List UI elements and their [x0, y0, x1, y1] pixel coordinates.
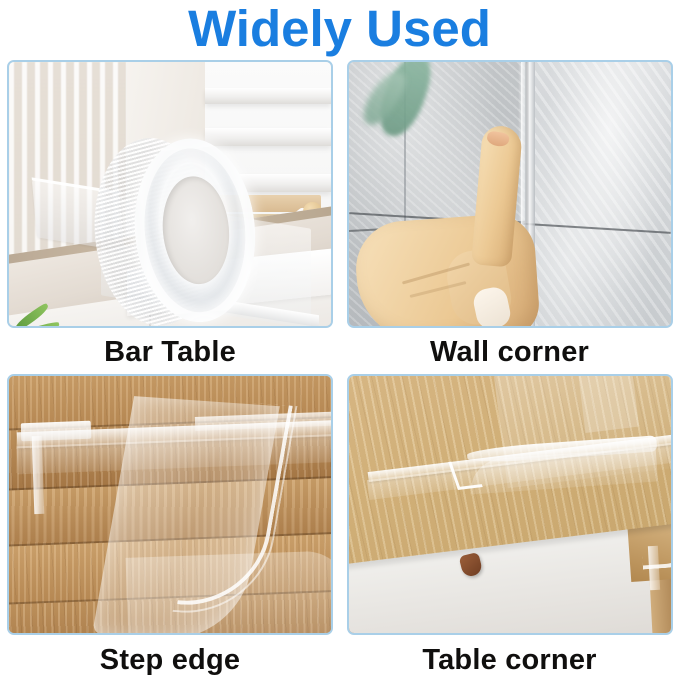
scene-step-edge — [9, 376, 331, 633]
usage-card-table-corner: Table corner — [340, 374, 679, 683]
panel-image-table-corner — [347, 374, 673, 635]
plant-leaf — [7, 321, 60, 328]
panel-caption-wall-corner: Wall corner — [430, 335, 589, 369]
scene-table-corner — [349, 376, 671, 633]
scene-wall-corner — [349, 62, 671, 326]
panel-image-wall-corner — [347, 60, 673, 328]
panel-caption-table-corner: Table corner — [422, 643, 596, 677]
scene-bar-table — [9, 62, 331, 326]
nano-tape-roll — [87, 129, 265, 328]
usage-card-wall-corner: Wall corner — [340, 60, 679, 374]
table-top-reflection — [576, 374, 638, 433]
shelf-board — [205, 88, 331, 104]
panel-image-step-edge — [7, 374, 333, 635]
potted-plant — [7, 320, 91, 328]
usage-card-bar-table: Bar Table — [0, 60, 340, 374]
usage-panel-grid: Bar Table — [0, 60, 679, 683]
page-title: Widely Used — [0, 0, 679, 60]
usage-card-step-edge: Step edge — [0, 374, 340, 683]
panel-caption-step-edge: Step edge — [100, 643, 240, 677]
edge-protector-down-leg — [647, 546, 659, 590]
panel-caption-bar-table: Bar Table — [104, 335, 236, 369]
pointing-hand — [357, 122, 567, 328]
panel-image-bar-table — [7, 60, 333, 328]
